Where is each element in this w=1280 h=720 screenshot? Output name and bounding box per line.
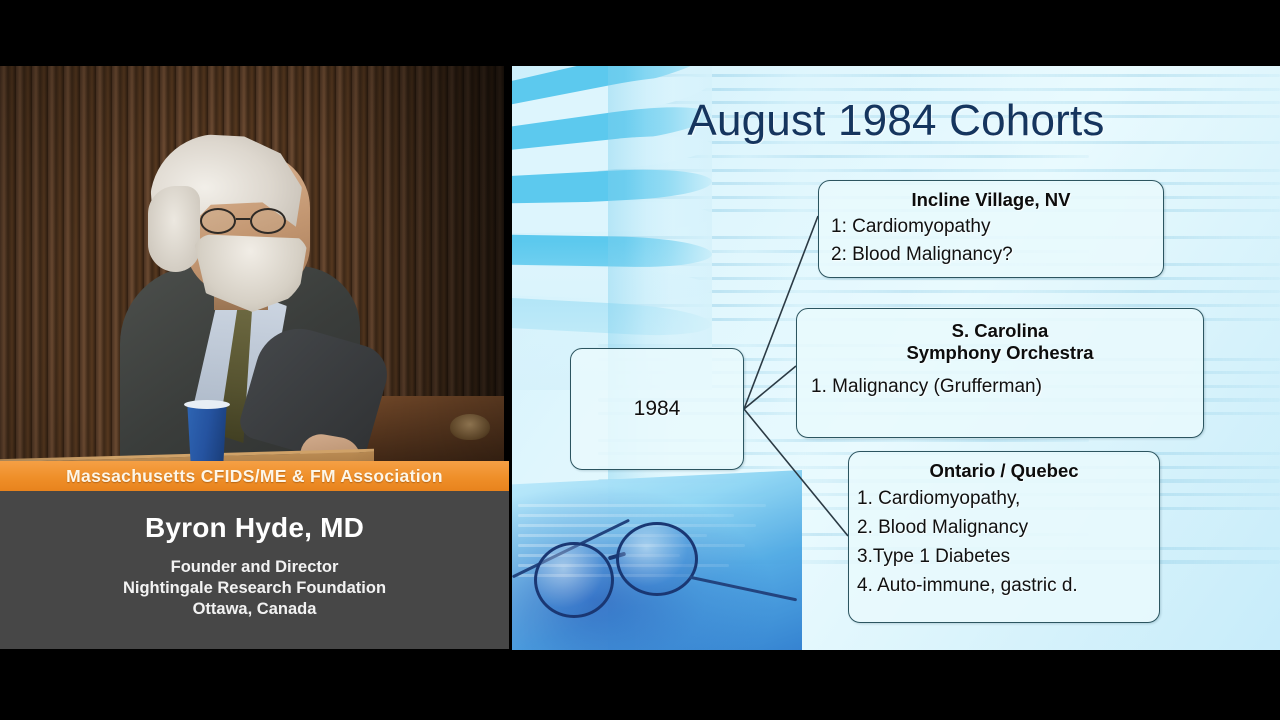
speaker-location: Ottawa, Canada — [123, 599, 386, 620]
node-list-item: 1. Cardiomyopathy, — [849, 487, 1159, 511]
node-header-line-2: Symphony Orchestra — [797, 342, 1203, 364]
node-list-item: 4. Auto-immune, gastric d. — [849, 574, 1159, 598]
lens-bridge — [236, 218, 250, 220]
diagram-node-root-label: 1984 — [634, 397, 681, 421]
node-list-item: 2. Blood Malignancy — [849, 516, 1159, 540]
organization-banner: Massachusetts CFIDS/ME & FM Association — [0, 461, 509, 491]
node-header: S. Carolina — [797, 320, 1203, 342]
speaker-lower-third: Byron Hyde, MD Founder and Director Nigh… — [0, 491, 509, 649]
presentation-slide[interactable]: August 1984 Cohorts 1984 Incline Village… — [512, 66, 1280, 650]
cohort-diagram: 1984 Incline Village, NV 1: Cardiomyopat… — [512, 66, 1280, 650]
node-list-item: 1. Malignancy (Grufferman) — [797, 375, 1203, 399]
organization-banner-label: Massachusetts CFIDS/ME & FM Association — [66, 466, 443, 487]
speaker-name: Byron Hyde, MD — [145, 513, 364, 544]
diagram-node-ontario-quebec[interactable]: Ontario / Quebec 1. Cardiomyopathy, 2. B… — [848, 451, 1160, 623]
table-object — [450, 414, 490, 440]
screen: Massachusetts CFIDS/ME & FM Association … — [0, 0, 1280, 720]
node-list-item: 1: Cardiomyopathy — [819, 215, 1163, 239]
lens-right — [250, 208, 286, 234]
speaker-role: Founder and Director — [123, 557, 386, 578]
speaker-organization: Nightingale Research Foundation — [123, 578, 386, 599]
node-header: Incline Village, NV — [819, 189, 1163, 211]
speaker-affiliation: Founder and Director Nightingale Researc… — [123, 557, 386, 620]
lens-left — [200, 208, 236, 234]
node-list-item: 3.Type 1 Diabetes — [849, 545, 1159, 569]
node-header: Ontario / Quebec — [849, 460, 1159, 482]
diagram-node-incline-village[interactable]: Incline Village, NV 1: Cardiomyopathy 2:… — [818, 180, 1164, 278]
diagram-node-s-carolina-symphony-orchestra[interactable]: S. Carolina Symphony Orchestra 1. Malign… — [796, 308, 1204, 438]
speaker-hair-side — [148, 186, 200, 272]
coffee-cup-rim — [184, 400, 230, 409]
speaker-eyeglasses-icon — [196, 208, 300, 234]
diagram-node-root[interactable]: 1984 — [570, 348, 744, 470]
node-list-item: 2: Blood Malignancy? — [819, 243, 1163, 267]
